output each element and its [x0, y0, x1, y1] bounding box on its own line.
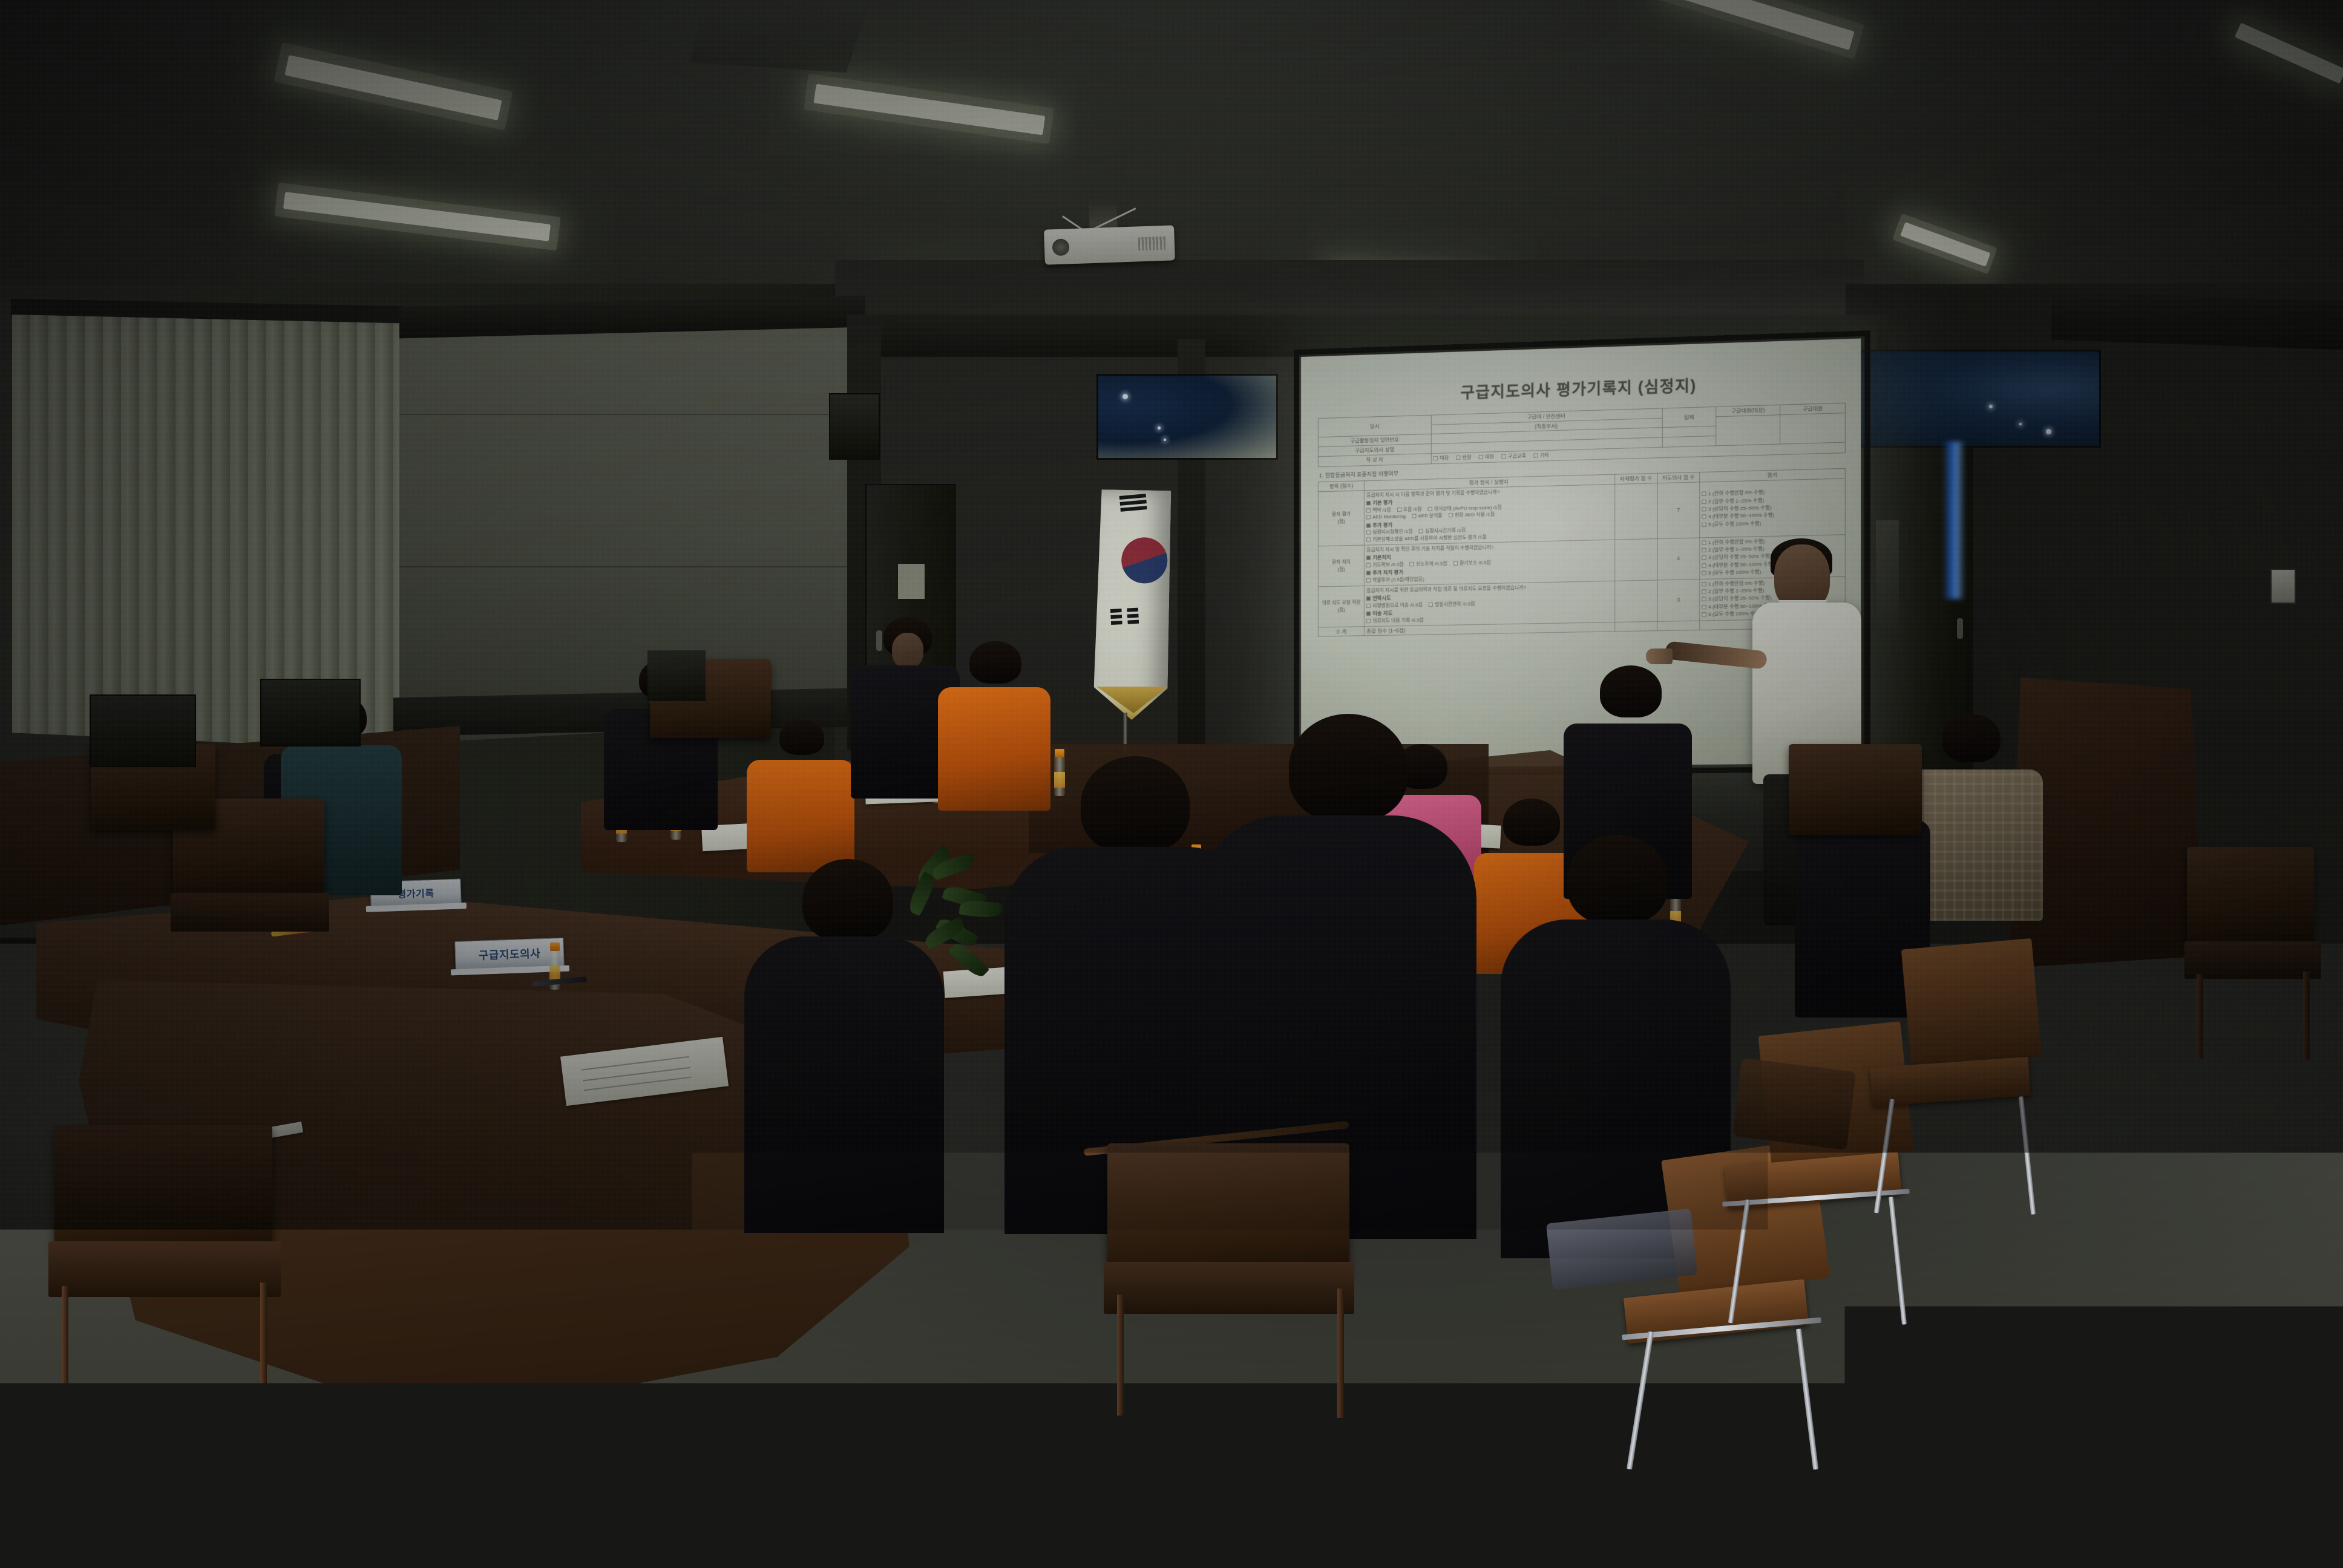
chair-back [1107, 1143, 1349, 1270]
jacket-on-chair [1732, 1058, 1856, 1150]
folding-chair-back [1901, 938, 2042, 1068]
ceiling-vent [690, 0, 871, 73]
chair-foreground-center[interactable] [1065, 1107, 1404, 1422]
attendee-side-left [744, 859, 944, 1234]
folding-chair-leg [1627, 1331, 1654, 1470]
door-right-panel [1876, 520, 1899, 635]
attendee-hair [1600, 665, 1662, 717]
chair-leg [260, 1282, 267, 1435]
chair-seat [2184, 941, 2321, 979]
trigram-geon-icon [1119, 494, 1147, 514]
folding-chair-leg [2019, 1096, 2036, 1215]
decor-panel-right-starfield [1859, 350, 2101, 448]
taeguk-symbol-icon [1121, 537, 1168, 584]
chair-far-right[interactable] [2178, 847, 2330, 1065]
projector-lens-icon [1052, 238, 1070, 256]
south-korea-flag [1093, 489, 1171, 720]
attendee-hair [1567, 835, 1668, 924]
blue-accent-light [1942, 442, 1965, 599]
attendee-hair [1942, 714, 2001, 762]
chair-seat [48, 1241, 281, 1297]
attendee-hair [1081, 756, 1190, 853]
nameplate-2: 구급지도의사 [454, 938, 565, 970]
chair-seat [1104, 1262, 1354, 1314]
star-icon [1122, 394, 1128, 399]
folding-chair-leg [1796, 1328, 1818, 1469]
star-icon [2046, 429, 2051, 434]
door-handle-right[interactable] [1957, 618, 1963, 639]
ceiling-projector [1044, 225, 1175, 264]
star-icon [2019, 423, 2022, 425]
chair-back [1789, 744, 1922, 835]
door-notice-paper [898, 564, 925, 599]
nameplate-2-text: 구급지도의사 [478, 945, 540, 963]
star-icon [1158, 426, 1161, 430]
attendee-hair [969, 641, 1021, 684]
equipment-box-left [90, 694, 196, 767]
star-icon [1989, 405, 1993, 408]
chair-back [2187, 847, 2314, 944]
wall-speaker [829, 393, 880, 460]
folding-chair-leg [1728, 1199, 1751, 1323]
equipment-box-mid [647, 650, 706, 701]
equipment-box-left-2 [260, 679, 361, 746]
chair-left-foreground[interactable] [24, 1113, 303, 1452]
chair-left-1[interactable] [79, 744, 230, 926]
chair-leg [2197, 974, 2203, 1059]
projector-vent [1138, 237, 1167, 251]
chair-leg [1117, 1295, 1124, 1416]
attendee-hair [779, 720, 824, 755]
chair-leg [62, 1286, 68, 1443]
attendee-torso [744, 936, 944, 1233]
folding-chair-leg [1874, 1099, 1895, 1213]
chair-right-rear[interactable] [1779, 744, 1936, 938]
star-icon [1164, 439, 1166, 441]
presenter-hand [1646, 648, 1673, 664]
chair-leg [1337, 1289, 1344, 1418]
chair-back [54, 1125, 272, 1246]
conference-room-scene: 구급지도의사 평가기록지 (심정지) 일시 구급대 / 안전센터 팀제 [0, 0, 2343, 1568]
decor-panel-left-starfield [1096, 374, 1278, 460]
presenter-head [1774, 544, 1830, 610]
wall-switch-panel[interactable] [2270, 569, 2296, 604]
attendee-hair [802, 859, 893, 941]
trigram-gon-icon [1110, 608, 1139, 627]
attendee-face [892, 633, 923, 669]
attendee-hair [1289, 714, 1407, 822]
chair-leg [2303, 972, 2310, 1060]
wall-trim-right-top [2051, 291, 2343, 350]
